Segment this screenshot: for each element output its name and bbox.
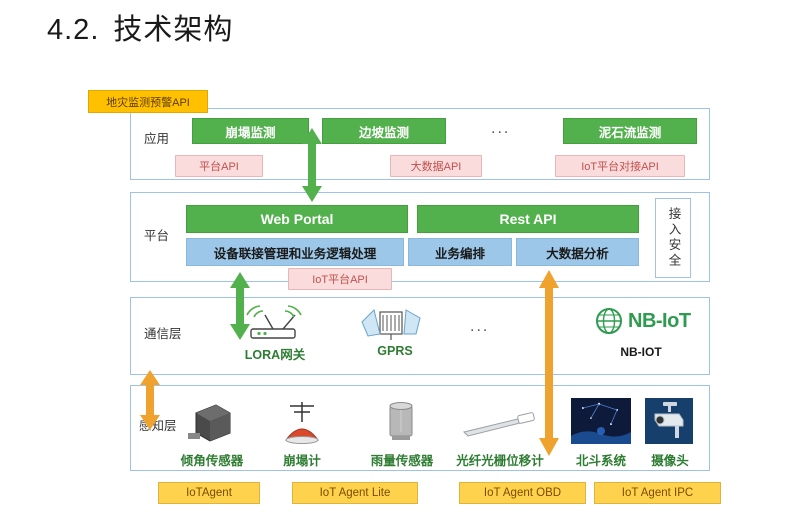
app-api-platform-label: 平台API xyxy=(199,158,239,174)
beidou-caption: 北斗系统 xyxy=(561,450,641,469)
rain-sensor-icon xyxy=(378,398,424,444)
agent-tag-iotagent[interactable]: IoTAgent xyxy=(158,482,260,504)
app-api-bigdata[interactable]: 大数据API xyxy=(390,155,482,177)
agent-tag-obd[interactable]: IoT Agent OBD xyxy=(459,482,586,504)
app-api-platform[interactable]: 平台API xyxy=(175,155,263,177)
platform-device-mgmt[interactable]: 设备联接管理和业务逻辑处理 xyxy=(186,238,404,266)
app-api-bigdata-label: 大数据API xyxy=(411,158,462,174)
app-api-iot-label: IoT平台对接API xyxy=(581,158,659,174)
tilt-sensor-caption: 倾角传感器 xyxy=(167,450,257,469)
camera-caption: 摄像头 xyxy=(640,450,700,469)
arrow-communication-perception xyxy=(138,370,162,430)
collapse-meter-caption: 崩塌计 xyxy=(265,450,339,469)
platform-web-portal-label: Web Portal xyxy=(261,211,334,227)
camera-icon xyxy=(645,398,693,444)
disaster-warning-api-tag-label: 地灾监测预警API xyxy=(106,94,190,110)
collapse-meter-icon xyxy=(276,400,328,444)
agent-tag-lite[interactable]: IoT Agent Lite xyxy=(292,482,418,504)
page-title: 4.2.技术架构 xyxy=(47,6,233,48)
platform-bigdata-analysis[interactable]: 大数据分析 xyxy=(516,238,639,266)
platform-orchestration[interactable]: 业务编排 xyxy=(408,238,512,266)
platform-access-security-label: 接入安全 xyxy=(666,207,681,269)
gprs-caption: GPRS xyxy=(356,344,434,358)
agent-tag-ipc[interactable]: IoT Agent IPC xyxy=(594,482,721,504)
agent-tag-lite-label: IoT Agent Lite xyxy=(320,487,391,499)
platform-iot-api-tag[interactable]: IoT平台API xyxy=(288,268,392,290)
platform-web-portal[interactable]: Web Portal xyxy=(186,205,408,233)
nb-iot-logo-text: NB-IoT xyxy=(628,310,691,333)
agent-tag-ipc-label: IoT Agent IPC xyxy=(622,487,693,499)
lora-gateway-caption: LORA网关 xyxy=(234,344,316,363)
agent-tag-obd-label: IoT Agent OBD xyxy=(484,487,561,499)
arrow-app-platform xyxy=(300,128,324,202)
platform-band-label: 平台 xyxy=(144,225,169,244)
platform-orchestration-label: 业务编排 xyxy=(435,243,485,262)
beidou-icon xyxy=(571,398,631,444)
gprs-icon xyxy=(358,306,430,344)
app-api-iot[interactable]: IoT平台对接API xyxy=(555,155,685,177)
arrow-platform-communication xyxy=(228,272,252,340)
platform-access-security: 接入安全 xyxy=(655,198,691,278)
nb-iot-caption: NB-IOT xyxy=(601,345,681,359)
fiber-grating-icon xyxy=(458,408,540,440)
application-band-label: 应用 xyxy=(144,128,169,147)
tilt-sensor-icon xyxy=(186,399,236,443)
app-box-slope-label: 边坡监测 xyxy=(359,122,409,141)
rain-sensor-caption: 雨量传感器 xyxy=(362,450,442,469)
app-box-debris[interactable]: 泥石流监测 xyxy=(563,118,697,144)
app-box-slope[interactable]: 边坡监测 xyxy=(322,118,446,144)
lora-gateway-icon xyxy=(243,303,305,343)
communication-ellipsis: ... xyxy=(470,318,489,336)
application-ellipsis: ... xyxy=(491,120,510,138)
platform-iot-api-tag-label: IoT平台API xyxy=(312,271,368,287)
communication-band-label: 通信层 xyxy=(144,323,182,342)
app-box-collapse[interactable]: 崩塌监测 xyxy=(192,118,309,144)
nb-iot-icon xyxy=(594,306,624,336)
arrow-platform-perception xyxy=(537,270,561,456)
app-box-debris-label: 泥石流监测 xyxy=(599,122,662,141)
app-box-collapse-label: 崩塌监测 xyxy=(225,122,275,141)
agent-tag-iotagent-label: IoTAgent xyxy=(186,487,232,499)
page-title-text: 技术架构 xyxy=(113,14,233,46)
platform-rest-api[interactable]: Rest API xyxy=(417,205,639,233)
platform-bigdata-analysis-label: 大数据分析 xyxy=(546,243,609,262)
platform-rest-api-label: Rest API xyxy=(499,211,556,227)
platform-device-mgmt-label: 设备联接管理和业务逻辑处理 xyxy=(214,243,377,262)
disaster-warning-api-tag[interactable]: 地灾监测预警API xyxy=(88,90,208,113)
page-title-number: 4.2. xyxy=(47,14,99,46)
